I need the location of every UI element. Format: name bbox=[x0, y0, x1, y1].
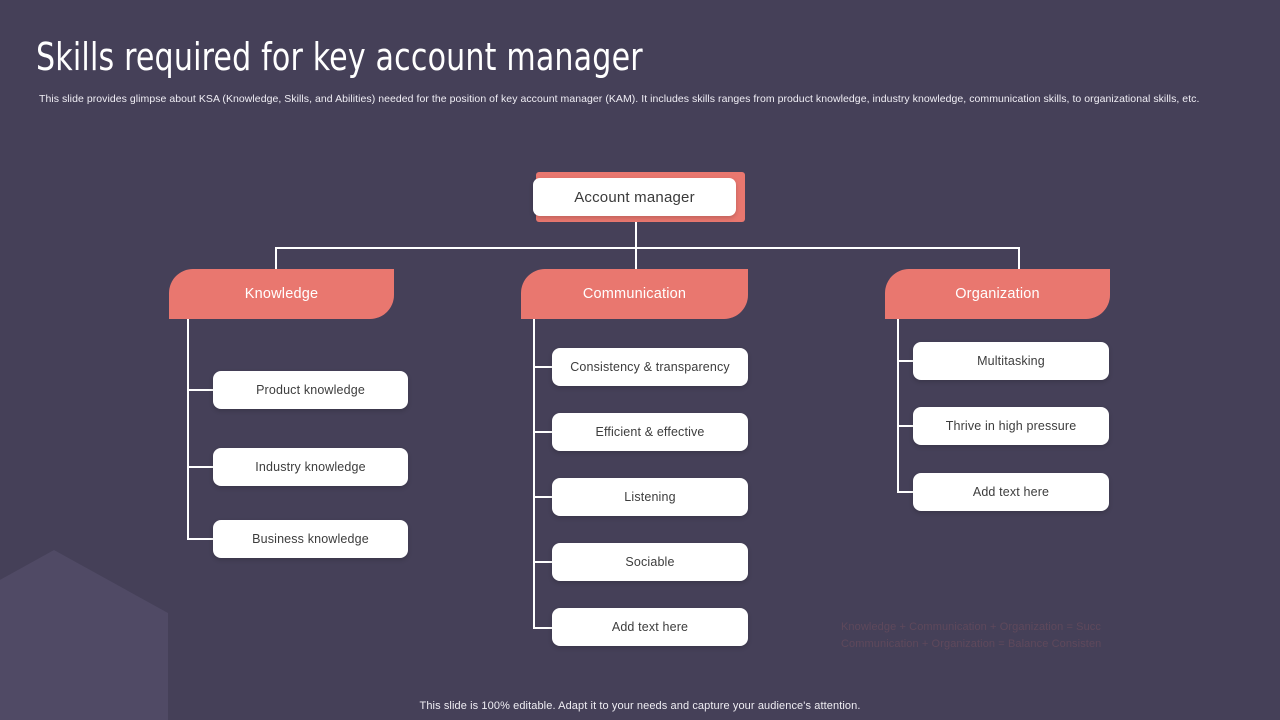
branch-header-knowledge-label: Knowledge bbox=[245, 286, 319, 302]
decorative-pentagon-shape bbox=[0, 550, 168, 720]
leaf-node-add-text-here-communication[interactable]: Add text here bbox=[552, 608, 748, 646]
leaf-node-industry-knowledge[interactable]: Industry knowledge bbox=[213, 448, 408, 486]
leaf-node-label: Add text here bbox=[612, 620, 688, 634]
faint-watermark-note-line-2: Communication + Organization = Balance C… bbox=[841, 636, 1241, 653]
connector-stub-add-text-here-communication bbox=[533, 627, 553, 629]
leaf-node-consistency-transparency[interactable]: Consistency & transparency bbox=[552, 348, 748, 386]
slide-canvas: Skills required for key account manager … bbox=[0, 0, 1280, 720]
leaf-node-label: Sociable bbox=[625, 555, 674, 569]
leaf-node-product-knowledge[interactable]: Product knowledge bbox=[213, 371, 408, 409]
leaf-node-label: Business knowledge bbox=[252, 532, 369, 546]
leaf-node-multitasking[interactable]: Multitasking bbox=[913, 342, 1109, 380]
connector-stub-sociable bbox=[533, 561, 553, 563]
connector-stub-listening bbox=[533, 496, 553, 498]
branch-header-organization-label: Organization bbox=[955, 286, 1040, 302]
leaf-node-label: Consistency & transparency bbox=[570, 360, 730, 374]
connector-spine-organization bbox=[897, 319, 899, 492]
leaf-node-label: Product knowledge bbox=[256, 383, 365, 397]
leaf-node-sociable[interactable]: Sociable bbox=[552, 543, 748, 581]
leaf-node-efficient-effective[interactable]: Efficient & effective bbox=[552, 413, 748, 451]
faint-watermark-note-line-1: Knowledge + Communication + Organization… bbox=[841, 619, 1241, 636]
connector-stub-product-knowledge bbox=[187, 389, 214, 391]
faint-watermark-note: Knowledge + Communication + Organization… bbox=[841, 619, 1241, 653]
org-chart-root-node[interactable]: Account manager bbox=[533, 172, 745, 222]
root-node-label: Account manager bbox=[574, 189, 695, 206]
connector-drop-communication bbox=[635, 247, 637, 271]
leaf-node-add-text-here-organization[interactable]: Add text here bbox=[913, 473, 1109, 511]
connector-root-stem bbox=[635, 222, 637, 248]
connector-stub-business-knowledge bbox=[187, 538, 214, 540]
leaf-node-thrive-high-pressure[interactable]: Thrive in high pressure bbox=[913, 407, 1109, 445]
page-subtitle: This slide provides glimpse about KSA (K… bbox=[39, 92, 1239, 107]
leaf-node-label: Efficient & effective bbox=[596, 425, 705, 439]
leaf-node-label: Multitasking bbox=[977, 354, 1045, 368]
connector-stub-consistency-transparency bbox=[533, 366, 553, 368]
leaf-node-business-knowledge[interactable]: Business knowledge bbox=[213, 520, 408, 558]
connector-drop-knowledge bbox=[275, 247, 277, 271]
branch-header-communication[interactable]: Communication bbox=[521, 269, 748, 319]
leaf-node-label: Industry knowledge bbox=[255, 460, 365, 474]
leaf-node-label: Thrive in high pressure bbox=[946, 419, 1077, 433]
connector-root-bus bbox=[275, 247, 1019, 249]
leaf-node-label: Add text here bbox=[973, 485, 1049, 499]
connector-drop-organization bbox=[1018, 247, 1020, 271]
connector-spine-knowledge bbox=[187, 319, 189, 539]
root-node-box[interactable]: Account manager bbox=[533, 178, 736, 216]
branch-header-knowledge[interactable]: Knowledge bbox=[169, 269, 394, 319]
slide-footer-note: This slide is 100% editable. Adapt it to… bbox=[0, 700, 1280, 712]
connector-stub-efficient-effective bbox=[533, 431, 553, 433]
leaf-node-label: Listening bbox=[624, 490, 675, 504]
branch-header-communication-label: Communication bbox=[583, 286, 686, 302]
branch-header-organization[interactable]: Organization bbox=[885, 269, 1110, 319]
leaf-node-listening[interactable]: Listening bbox=[552, 478, 748, 516]
page-title: Skills required for key account manager bbox=[36, 34, 643, 80]
connector-stub-industry-knowledge bbox=[187, 466, 214, 468]
